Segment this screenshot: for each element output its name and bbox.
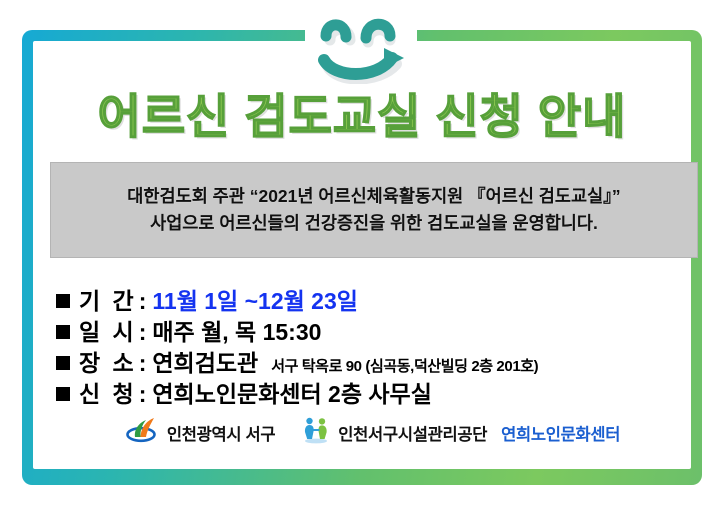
detail-label-schedule: 일 시	[79, 313, 137, 347]
detail-value-period: 11월 1일 ~12월 23일	[152, 282, 358, 316]
detail-colon-schedule: :	[139, 319, 147, 346]
footer-center-name: 연희노인문화센터	[501, 421, 620, 445]
details-list: 기 간 : 11월 1일 ~12월 23일 일 시 : 매주 월, 목 15:3…	[56, 282, 706, 406]
detail-row-schedule: 일 시 : 매주 월, 목 15:30	[56, 313, 706, 344]
detail-colon-period: :	[139, 288, 147, 315]
detail-subtext-venue-address: 서구 탁옥로 90 (심곡동,덕산빌딩 2층 201호)	[271, 355, 538, 376]
filled-square-bullet-icon	[56, 325, 70, 339]
incheon-seogu-emblem-icon	[126, 416, 160, 449]
filled-square-bullet-icon	[56, 356, 70, 370]
detail-colon-venue: :	[139, 350, 147, 377]
detail-label-period: 기 간	[79, 282, 137, 316]
detail-value-application: 연희노인문화센터 2층 사무실	[152, 375, 432, 409]
notice-line-1: 대한검도회 주관 “2021년 어르신체육활동지원 『어르신 검도교실』”	[127, 183, 620, 210]
page-title: 어르신 검도교실 신청 안내	[0, 78, 724, 147]
detail-label-application: 신 청	[79, 375, 137, 409]
detail-colon-application: :	[139, 381, 147, 408]
detail-value-venue: 연희검도관	[152, 344, 258, 378]
filled-square-bullet-icon	[56, 294, 70, 308]
detail-row-application: 신 청 : 연희노인문화센터 2층 사무실	[56, 375, 706, 406]
footer-logo-row: 인천광역시 서구 인천서구시설관리공단	[33, 416, 713, 449]
logo-label-facility-management: 인천서구시설관리공단	[338, 421, 487, 445]
logo-label-incheon-seogu: 인천광역시 서구	[167, 421, 275, 445]
notice-text: 대한검도회 주관 “2021년 어르신체육활동지원 『어르신 검도교실』” 사업…	[117, 183, 630, 237]
detail-value-schedule: 매주 월, 목 15:30	[152, 313, 321, 347]
filled-square-bullet-icon	[56, 387, 70, 401]
poster-canvas: 대한검도회 주관 “2021년 어르신체육활동지원 『어르신 검도교실』” 사업…	[0, 0, 724, 507]
detail-row-period: 기 간 : 11월 1일 ~12월 23일	[56, 282, 706, 313]
notice-box: 대한검도회 주관 “2021년 어르신체육활동지원 『어르신 검도교실』” 사업…	[50, 162, 698, 258]
detail-label-venue: 장 소	[79, 344, 137, 378]
logo-incheon-seogu: 인천광역시 서구	[126, 416, 275, 449]
notice-line-2: 사업으로 어르신들의 건강증진을 위한 검도교실을 운영합니다.	[127, 210, 620, 237]
detail-row-venue: 장 소 : 연희검도관 서구 탁옥로 90 (심곡동,덕산빌딩 2층 201호)	[56, 344, 706, 375]
logo-facility-management: 인천서구시설관리공단	[301, 416, 487, 449]
facility-management-figures-icon	[301, 416, 331, 449]
sg-arrows-logo-icon	[306, 6, 418, 84]
